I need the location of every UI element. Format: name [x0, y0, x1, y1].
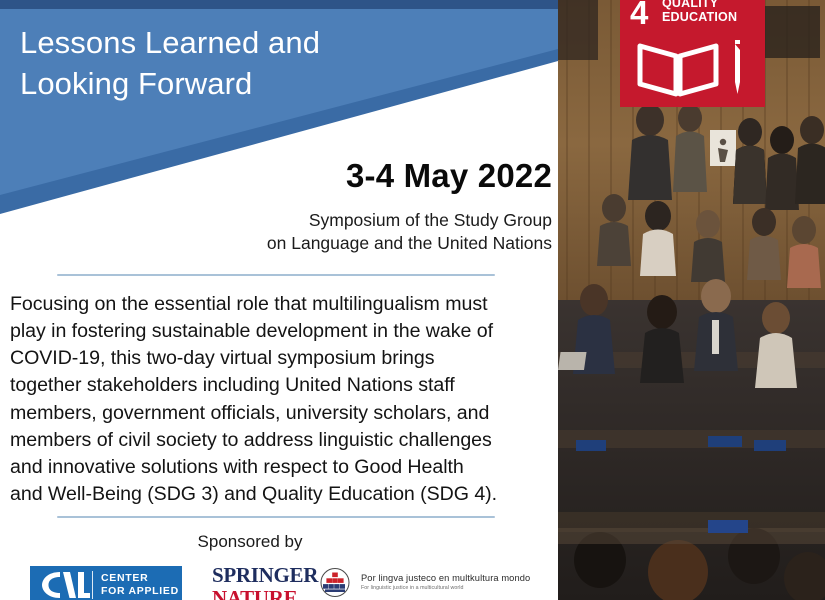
event-date: 3-4 May 2022	[12, 157, 552, 195]
nature-wordmark: NATURE	[212, 587, 316, 600]
cal-wordmark-line-2: FOR APPLIED	[101, 585, 179, 598]
cal-logo-divider	[92, 571, 93, 599]
cal-logo[interactable]: CENTER FOR APPLIED	[30, 566, 182, 600]
cal-wordmark-line-1: CENTER	[101, 572, 179, 585]
conference-photo: 4 QUALITY EDUCATION	[558, 0, 825, 600]
symposium-poster: Lessons Learned and Looking Forward 3-4 …	[0, 0, 825, 600]
sdg-label-line-2: EDUCATION	[662, 10, 737, 24]
event-description: Focusing on the essential role that mult…	[10, 291, 556, 508]
poster-title-line-1: Lessons Learned and	[20, 22, 450, 63]
poster-title-line-2: Looking Forward	[20, 63, 450, 104]
description-line-8: and Well-Being (SDG 3) and Quality Educa…	[10, 481, 556, 508]
description-line-6: members of civil society to address ling…	[10, 427, 556, 454]
sdg-label: QUALITY EDUCATION	[662, 0, 737, 24]
description-line-5: members, government officials, universit…	[10, 400, 556, 427]
description-line-7: and innovative solutions with respect to…	[10, 454, 556, 481]
divider-top	[57, 274, 495, 276]
divider-bottom	[57, 516, 495, 518]
cal-wordmark: CENTER FOR APPLIED	[93, 572, 179, 598]
esf-tagline: Por lingva justeco en multkultura mondo …	[352, 573, 530, 592]
event-subtitle-line-1: Symposium of the Study Group	[12, 209, 552, 232]
sdg-4-badge: 4 QUALITY EDUCATION	[620, 0, 765, 107]
event-subtitle: Symposium of the Study Group on Language…	[12, 209, 552, 255]
left-content-panel: Lessons Learned and Looking Forward 3-4 …	[0, 0, 558, 600]
cal-monogram-icon	[30, 566, 92, 600]
description-line-4: together stakeholders including United N…	[10, 372, 556, 399]
springer-nature-logo[interactable]: SPRINGER NATURE	[212, 564, 316, 600]
description-line-1: Focusing on the essential role that mult…	[10, 291, 556, 318]
poster-title: Lessons Learned and Looking Forward	[20, 22, 450, 104]
sponsor-logos: CENTER FOR APPLIED SPRINGER NATURE	[0, 566, 558, 600]
esf-logo[interactable]: Por lingva justeco en multkultura mondo …	[318, 567, 530, 598]
esf-tagline-english: For linguistic justice in a multicultura…	[361, 585, 530, 592]
springer-wordmark: SPRINGER	[212, 564, 316, 586]
sponsored-by-heading: Sponsored by	[0, 532, 500, 552]
book-and-pencil-icon	[636, 38, 749, 98]
top-accent-strip	[0, 0, 558, 9]
event-subtitle-line-2: on Language and the United Nations	[12, 232, 552, 255]
esf-tagline-esperanto: Por lingva justeco en multkultura mondo	[361, 573, 530, 585]
esf-emblem-icon	[318, 567, 352, 598]
description-line-3: COVID-19, this two-day virtual symposium…	[10, 345, 556, 372]
sdg-label-line-1: QUALITY	[662, 0, 737, 10]
sdg-number: 4	[630, 0, 648, 29]
description-line-2: play in fostering sustainable developmen…	[10, 318, 556, 345]
